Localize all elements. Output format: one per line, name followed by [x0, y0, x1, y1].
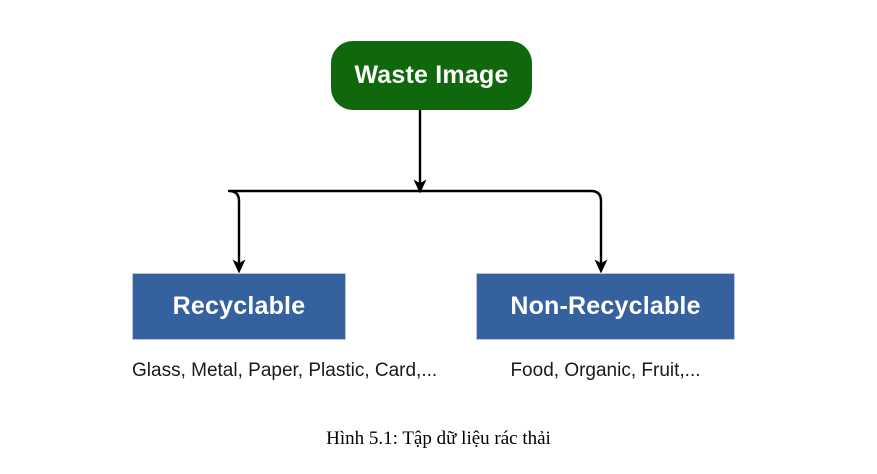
- node-recyclable[interactable]: Recyclable: [132, 273, 346, 340]
- node-waste-image-label: Waste Image: [354, 61, 508, 90]
- examples-non-recyclable: Food, Organic, Fruit,...: [476, 360, 735, 382]
- node-non-recyclable-label: Non-Recyclable: [510, 292, 700, 321]
- connector-bus-to-recyclable: [229, 191, 420, 266]
- node-non-recyclable[interactable]: Non-Recyclable: [476, 273, 735, 340]
- waste-dataset-figure: Waste Image Recyclable Non-Recyclable Gl…: [0, 0, 877, 474]
- connector-bus-to-nonrecyclable: [420, 191, 601, 266]
- node-waste-image[interactable]: Waste Image: [331, 41, 532, 110]
- examples-recyclable: Glass, Metal, Paper, Plastic, Card,...: [132, 360, 346, 382]
- figure-caption: Hình 5.1: Tập dữ liệu rác thải: [0, 428, 877, 450]
- node-recyclable-label: Recyclable: [173, 292, 306, 321]
